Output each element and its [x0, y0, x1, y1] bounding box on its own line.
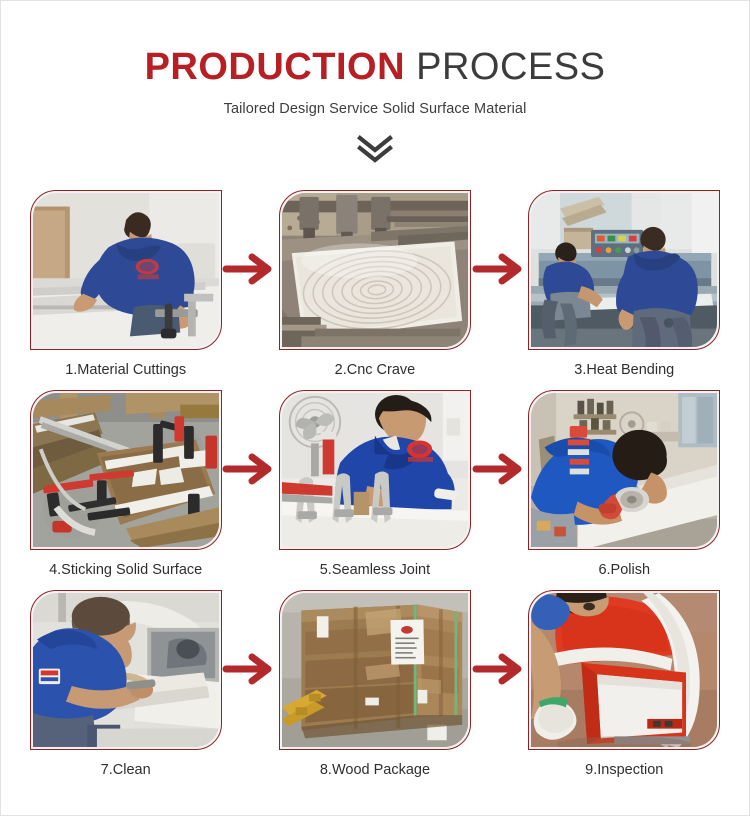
- page-title-light: [405, 46, 416, 88]
- step-2-caption: 2.Cnc Crave: [335, 362, 416, 378]
- step-6-photo-frame: [528, 390, 720, 550]
- step-1-photo: [33, 193, 219, 347]
- scene-worker-polishing-with-grinder: [531, 393, 717, 547]
- chevron-wrap: [1, 131, 749, 165]
- scene-inspecting-red-white-counter: [531, 593, 717, 747]
- arrow-right-icon-2: [472, 252, 528, 286]
- step-4-caption: 4.Sticking Solid Surface: [49, 562, 202, 578]
- step-2-photo: [282, 193, 468, 347]
- arrow-right-icon-1: [222, 252, 278, 286]
- step-7-photo-frame: [30, 590, 222, 750]
- step-1-photo-frame: [30, 190, 222, 350]
- process-row-2: 4.Sticking Solid Surface: [1, 390, 749, 590]
- step-6-caption: 6.Polish: [598, 562, 650, 578]
- step-9-photo-frame: [528, 590, 720, 750]
- scene-worker-clamping-seam: [282, 393, 468, 547]
- step-4-photo: [33, 393, 219, 547]
- step-1-caption: 1.Material Cuttings: [65, 362, 186, 378]
- step-9-caption: 9.Inspection: [585, 762, 663, 778]
- process-step-7: 7.Clean: [1, 590, 250, 778]
- arrow-right-icon-8: [472, 652, 528, 686]
- page-title-light-word: PROCESS: [416, 46, 605, 88]
- scene-worker-cleaning-counter: [33, 593, 219, 747]
- step-9-photo: [531, 593, 717, 747]
- double-chevron-down-icon: [350, 133, 400, 163]
- header: PRODUCTION PROCESS Tailored Design Servi…: [1, 1, 749, 165]
- step-5-caption: 5.Seamless Joint: [320, 562, 430, 578]
- arrow-right-icon-5: [472, 452, 528, 486]
- process-row-1: 1.Material Cuttings: [1, 190, 749, 390]
- page-subtitle: Tailored Design Service Solid Surface Ma…: [1, 101, 749, 117]
- page-title-strong: PRODUCTION: [145, 46, 405, 88]
- step-3-photo-frame: [528, 190, 720, 350]
- process-steps-grid: 1.Material Cuttings: [1, 190, 749, 790]
- scene-two-workers-heat-bending-machine: [531, 193, 717, 347]
- step-5-photo-frame: [279, 390, 471, 550]
- process-step-5: 5.Seamless Joint: [250, 390, 499, 578]
- production-process-infographic: PRODUCTION PROCESS Tailored Design Servi…: [1, 1, 749, 815]
- scene-wooden-crate-on-pallet: [282, 593, 468, 747]
- process-step-8: 8.Wood Package: [250, 590, 499, 778]
- scene-worker-cutting-sheet: [33, 193, 219, 347]
- process-step-3: 3.Heat Bending: [500, 190, 749, 378]
- step-8-caption: 8.Wood Package: [320, 762, 430, 778]
- scene-clamps-on-wooden-jig: [33, 393, 219, 547]
- process-step-4: 4.Sticking Solid Surface: [1, 390, 250, 578]
- step-8-photo-frame: [279, 590, 471, 750]
- arrow-right-icon-7: [222, 652, 278, 686]
- process-step-9: 9.Inspection: [500, 590, 749, 778]
- step-4-photo-frame: [30, 390, 222, 550]
- process-step-6: 6.Polish: [500, 390, 749, 578]
- step-7-photo: [33, 593, 219, 747]
- step-8-photo: [282, 593, 468, 747]
- step-3-photo: [531, 193, 717, 347]
- arrow-right-icon-4: [222, 452, 278, 486]
- scene-cnc-machine-carving-spiral: [282, 193, 468, 347]
- process-row-3: 7.Clean: [1, 590, 749, 790]
- page-title: PRODUCTION PROCESS: [1, 45, 749, 89]
- step-6-photo: [531, 393, 717, 547]
- process-step-2: 2.Cnc Crave: [250, 190, 499, 378]
- step-3-caption: 3.Heat Bending: [574, 362, 674, 378]
- step-5-photo: [282, 393, 468, 547]
- step-2-photo-frame: [279, 190, 471, 350]
- step-7-caption: 7.Clean: [101, 762, 151, 778]
- process-step-1: 1.Material Cuttings: [1, 190, 250, 378]
